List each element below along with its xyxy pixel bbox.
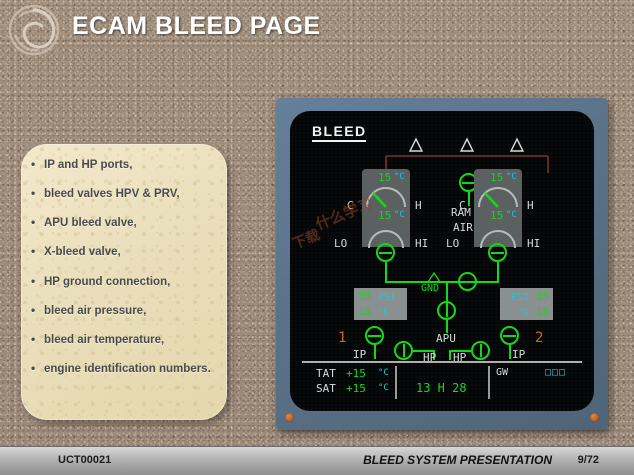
right-pack-temp-gauge [475,186,521,208]
duct-triangles-group [290,133,594,175]
footer-page-number: 9/72 [578,454,599,466]
list-item: • engine identification numbers. [31,362,215,376]
ecam-screen: BLEED 15 °C 15 °C C H LO HI [290,111,594,411]
tat-unit: °C [378,368,389,378]
right-pressure-unit: PSI [511,292,529,303]
bullet-marker: • [31,275,44,288]
footer-code: UCT00021 [58,454,111,466]
left-pressure-unit: PSI [378,292,396,303]
left-pack-temp-gauge [363,186,409,208]
bullet-marker: • [31,216,44,229]
ram-air-duct-line [386,156,548,173]
engine-right-hp-open-bar [480,344,482,357]
bullet-marker: • [31,333,44,346]
left-temperature-value: 15 [358,305,371,318]
engine-left-hp-open-bar [403,344,405,357]
left-pack-unit: 15 °C 15 °C [362,169,410,247]
left-pack-temp-upper: 15 [378,171,391,184]
left-pack-unit-upper: °C [394,172,405,182]
engine-right-ip-closed-bar [503,335,516,337]
bezel-screw-bottom-right [590,413,599,422]
page-title: ECAM BLEED PAGE [72,12,321,41]
engine-left-ip-closed-bar [368,335,381,337]
clock-value: 13 H 28 [416,381,467,395]
status-separator-1 [395,366,397,399]
apu-label: APU [436,332,456,345]
bullet-text: bleed air pressure, [44,305,146,318]
bullet-marker: • [31,304,44,317]
bullet-list-card: • IP and HP ports, • bleed valves HPV & … [21,144,227,420]
crossbleed-valve[interactable] [458,272,477,291]
right-pack-unit-upper: °C [506,172,517,182]
sat-label: SAT [316,382,336,395]
left-readout-box: 35 PSI 15 °C [354,288,407,320]
ecam-display-bezel: BLEED 15 °C 15 °C C H LO HI [276,98,608,430]
list-item: • bleed valves HPV & PRV, [31,187,215,201]
bullet-marker: • [31,362,44,375]
list-item: • X-bleed valve, [31,245,215,259]
gw-label: GW [496,367,508,378]
engine-left-number: 1 [338,330,346,346]
tat-value: +15 [346,367,366,380]
right-temperature-value: 15 [536,305,549,318]
spiral-logo-icon [8,4,60,56]
engine-right-ip-stem [509,345,511,359]
left-pack-temp-lower: 15 [378,209,391,222]
bullet-text: bleed air temperature, [44,334,164,347]
engine-left-ip-label: IP [353,348,366,361]
engine-right-hp-drop [449,350,451,360]
left-pack-label-lo: LO [334,237,347,250]
tat-label: TAT [316,367,336,380]
apu-valve-open-bar [446,304,448,317]
left-pack-label-hi: HI [415,237,428,250]
bullet-marker: • [31,158,44,171]
list-item: • IP and HP ports, [31,158,215,172]
engine-left-ip-stem [374,345,376,359]
list-item: • bleed air temperature, [31,333,215,347]
left-pack-label-cold: C [347,199,354,212]
ram-air-label-line2: AIR [453,221,473,234]
footer-title: BLEED SYSTEM PRESENTATION [363,453,552,467]
engine-right-ip-valve[interactable] [500,326,519,345]
right-pack-label-hi: HI [527,237,540,250]
watermark-text-2: 下载 [290,224,323,253]
engine-right-number: 2 [535,330,543,346]
status-separator-2 [488,366,490,399]
gnd-triangle-icon [426,272,442,283]
left-pack-unit-lower: °C [394,210,405,220]
right-pack-temp-lower: 15 [490,209,503,222]
apu-bleed-valve[interactable] [437,301,456,320]
bullet-text: HP ground connection, [44,276,170,289]
gnd-label: GND [421,283,439,294]
engine-right-hp-valve[interactable] [471,341,490,360]
bullet-text: APU bleed valve, [44,217,137,230]
bullet-marker: • [31,187,44,200]
bullet-text: engine identification numbers. [44,363,211,376]
status-strip-divider [302,361,582,363]
left-pack-valve-closed-bar [379,252,392,254]
right-pack-unit-lower: °C [506,210,517,220]
right-temperature-unit: °C [518,308,529,318]
bezel-screw-bottom-left [285,413,294,422]
engine-left-ip-valve[interactable] [365,326,384,345]
right-readout-box: PSI 35 °C 15 [500,288,553,320]
duct-triangle-left-icon [410,139,422,151]
page-header: ECAM BLEED PAGE [0,0,634,58]
duct-triangle-right-icon [511,139,523,151]
left-pack-valve-stem [385,262,387,283]
list-item: • HP ground connection, [31,275,215,289]
right-pack-gauge-needle [485,193,498,207]
list-item: • APU bleed valve, [31,216,215,230]
right-pack-valve-stem [497,262,499,283]
engine-left-hp-valve[interactable] [394,341,413,360]
right-pack-label-cold: C [459,199,466,212]
left-pack-valve[interactable] [376,243,395,262]
bullet-text: bleed valves HPV & PRV, [44,188,180,201]
right-pack-label-hot: H [527,199,534,212]
right-pack-unit: 15 °C 15 °C [474,169,522,247]
bullet-marker: • [31,245,44,258]
right-pressure-value: 35 [536,290,549,303]
bullet-text: IP and HP ports, [44,159,132,172]
sat-unit: °C [378,383,389,393]
ram-air-stem [468,192,470,206]
ecam-status-strip: TAT +15 °C SAT +15 °C 13 H 28 GW □□□ [302,361,582,401]
engine-right-ip-label: IP [512,348,525,361]
right-pack-valve-closed-bar [491,252,504,254]
left-pack-gauge-needle [373,193,386,207]
left-temperature-unit: °C [378,308,389,318]
right-pack-temp-upper: 15 [490,171,503,184]
left-pack-label-hot: H [415,199,422,212]
sat-value: +15 [346,382,366,395]
left-pressure-value: 35 [358,290,371,303]
page-footer: UCT00021 BLEED SYSTEM PRESENTATION 9/72 [0,446,634,475]
duct-triangle-center-icon [461,139,473,151]
bullet-text: X-bleed valve, [44,246,121,259]
gw-value: □□□ [545,367,566,378]
right-pack-label-lo: LO [446,237,459,250]
right-pack-valve[interactable] [488,243,507,262]
list-item: • bleed air pressure, [31,304,215,318]
